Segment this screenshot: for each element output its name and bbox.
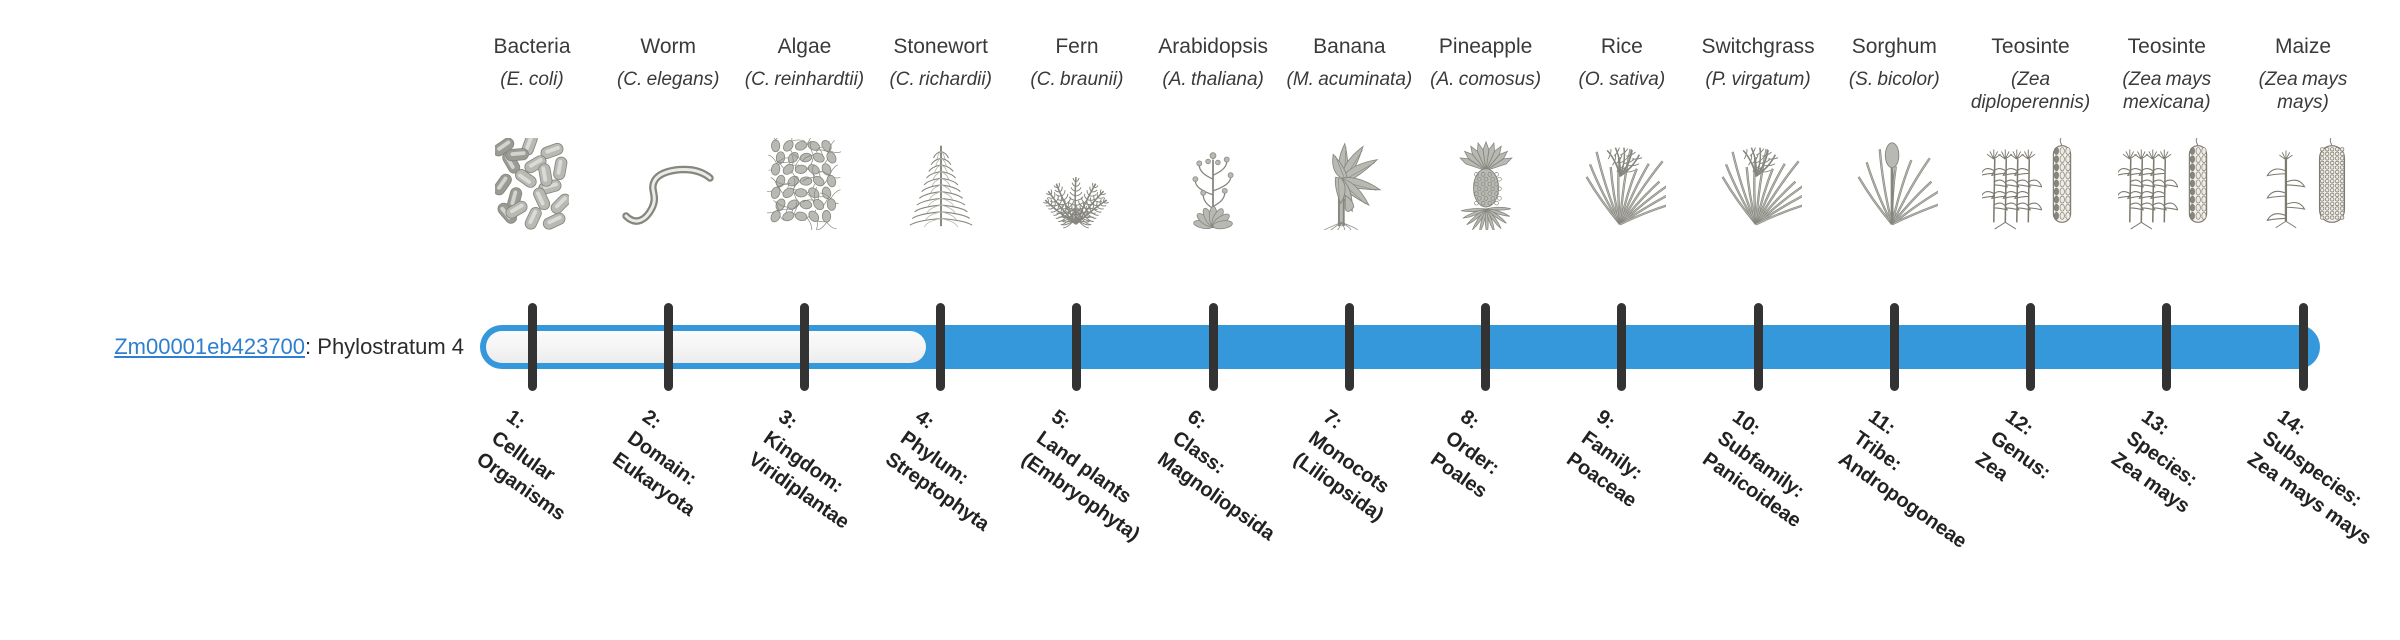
phylostratum-tick[interactable]	[1072, 303, 1081, 391]
phylostratum-tick[interactable]	[800, 303, 809, 391]
phylostratum-label-row: 1:CellularOrganisms2:Domain:Eukaryota3:K…	[0, 0, 2400, 580]
phylostratum-tick[interactable]	[1890, 303, 1899, 391]
phylostratum-tick[interactable]	[1209, 303, 1218, 391]
phylostratum-tick[interactable]	[664, 303, 673, 391]
phylostratigraphy-diagram: Bacteria (E. coli)	[0, 0, 2400, 580]
phylostratum-tick[interactable]	[1345, 303, 1354, 391]
phylostratum-tick[interactable]	[1754, 303, 1763, 391]
phylostratum-tick[interactable]	[1617, 303, 1626, 391]
phylostratum-tick[interactable]	[1481, 303, 1490, 391]
phylostratum-tick[interactable]	[2299, 303, 2308, 391]
phylostratum-tick[interactable]	[2162, 303, 2171, 391]
phylostratum-tick[interactable]	[936, 303, 945, 391]
phylostratum-tick[interactable]	[2026, 303, 2035, 391]
phylostratum-tick[interactable]	[528, 303, 537, 391]
